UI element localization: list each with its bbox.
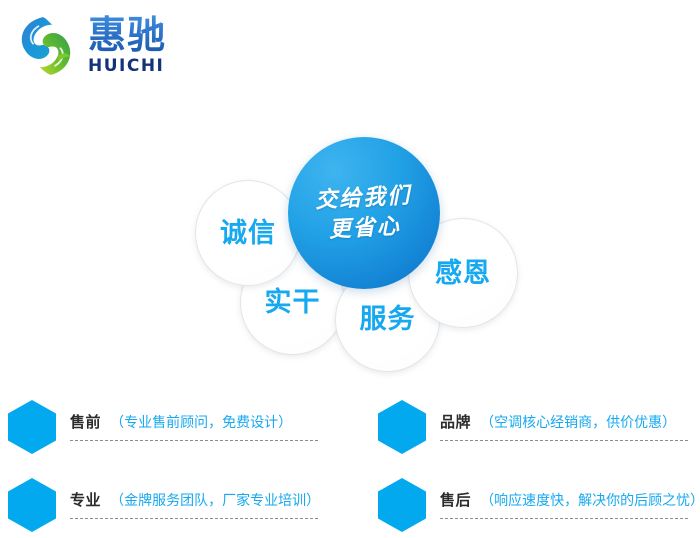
- bubble-center-slogan[interactable]: 交给我们 更省心: [288, 137, 440, 289]
- service-item-presale[interactable]: 售前 （专业售前顾问，免费设计）: [8, 396, 338, 458]
- hexagon-icon: [378, 400, 426, 454]
- service-title: 专业: [70, 491, 101, 509]
- logo-english-name: HUICHI: [88, 57, 203, 76]
- service-highlights: 售前 （专业售前顾问，免费设计） 品牌 （空调核心经销商，供价优惠） 专业: [0, 392, 700, 538]
- service-title: 品牌: [440, 413, 471, 431]
- bubble-chengxin[interactable]: 诚信: [195, 180, 301, 286]
- service-divider: [70, 518, 318, 519]
- service-description: （金牌服务团队，厂家专业培训）: [110, 493, 320, 509]
- service-title: 售前: [70, 413, 101, 431]
- company-logo[interactable]: 惠驰 HUICHI: [6, 4, 206, 88]
- service-item-body: 售后 （响应速度快，解决你的后顾之忧）: [440, 474, 700, 519]
- hexagon-icon: [8, 400, 56, 454]
- bubble-chengxin-label: 诚信: [220, 220, 276, 247]
- bubble-fuwu-label: 服务: [360, 306, 416, 333]
- service-divider: [440, 440, 688, 441]
- logo-wordmark: 惠驰 HUICHI: [88, 14, 203, 78]
- service-description: （空调核心经销商，供价优惠）: [480, 415, 676, 431]
- bubble-shigan-label: 实干: [265, 289, 321, 316]
- logo-chinese-name: 惠驰: [88, 14, 203, 56]
- values-bubble-diagram: 诚信 实干 服务 感恩 交给我们 更省心: [180, 125, 540, 380]
- service-item-aftersale[interactable]: 售后 （响应速度快，解决你的后顾之忧）: [378, 474, 700, 536]
- service-item-brand[interactable]: 品牌 （空调核心经销商，供价优惠）: [378, 396, 700, 458]
- huichi-circular-swirl-logo-icon: [8, 8, 84, 84]
- service-item-body: 专业 （金牌服务团队，厂家专业培训）: [70, 474, 332, 519]
- service-item-line: 专业 （金牌服务团队，厂家专业培训）: [70, 490, 332, 511]
- service-divider: [440, 518, 688, 519]
- service-title: 售后: [440, 491, 471, 509]
- service-item-line: 售后 （响应速度快，解决你的后顾之忧）: [440, 490, 700, 511]
- service-divider: [70, 440, 318, 441]
- service-item-line: 品牌 （空调核心经销商，供价优惠）: [440, 412, 700, 433]
- service-item-body: 售前 （专业售前顾问，免费设计）: [70, 396, 332, 441]
- service-item-body: 品牌 （空调核心经销商，供价优惠）: [440, 396, 700, 441]
- hexagon-icon: [8, 478, 56, 532]
- page-root: 惠驰 HUICHI 诚信 实干 服务 感恩 交给我们 更省心: [0, 0, 700, 538]
- bubble-ganen-label: 感恩: [435, 260, 491, 287]
- center-slogan-line-2: 更省心: [316, 210, 413, 245]
- service-item-line: 售前 （专业售前顾问，免费设计）: [70, 412, 332, 433]
- hexagon-icon: [378, 478, 426, 532]
- service-item-professional[interactable]: 专业 （金牌服务团队，厂家专业培训）: [8, 474, 338, 536]
- center-slogan-text: 交给我们 更省心: [314, 181, 413, 246]
- service-description: （响应速度快，解决你的后顾之忧）: [480, 493, 700, 509]
- service-description: （专业售前顾问，免费设计）: [110, 415, 292, 431]
